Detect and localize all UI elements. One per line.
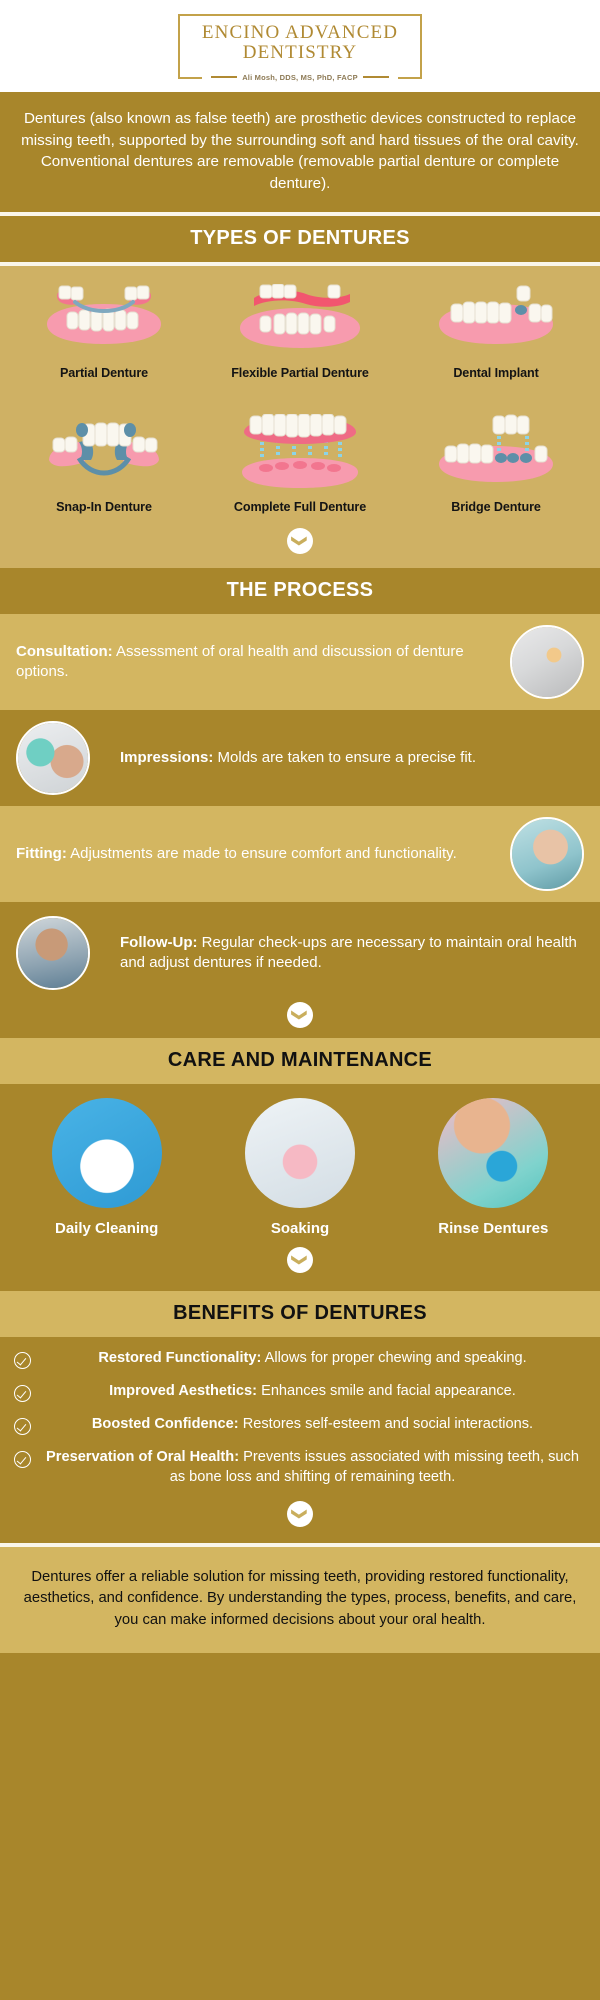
process-step-text: Consultation: Assessment of oral health … — [16, 642, 496, 683]
benefit-body-text: Restores self-esteem and social interact… — [239, 1416, 533, 1432]
scroll-chevron-3[interactable]: ❯ — [10, 1237, 590, 1281]
dental-implant-illustration — [402, 280, 590, 356]
benefit-term: Preservation of Oral Health: — [46, 1449, 239, 1465]
logo-header: ENCINO ADVANCED DENTISTRY Ali Mosh, DDS,… — [0, 0, 600, 92]
check-circle-icon — [14, 1352, 31, 1369]
partial-denture-illustration — [10, 280, 198, 356]
person-with-mouthwash-photo — [438, 1098, 548, 1208]
intro-section: Dentures (also known as false teeth) are… — [0, 92, 600, 212]
benefit-text: Boosted Confidence: Restores self-esteem… — [39, 1415, 586, 1435]
benefit-term: Restored Functionality: — [98, 1350, 261, 1366]
logo-rule-left — [211, 76, 237, 78]
patient-in-dental-chair-photo — [16, 916, 90, 990]
check-circle-icon — [14, 1418, 31, 1435]
type-label: Dental Implant — [402, 366, 590, 380]
care-row: Daily Cleaning Soaking Rinse Dentures — [10, 1098, 590, 1237]
logo-line-1: ENCINO ADVANCED — [202, 23, 398, 43]
snap-in-denture-illustration — [10, 414, 198, 490]
chevron-down-icon: ❯ — [287, 528, 313, 554]
types-row-1: Partial Denture — [6, 280, 594, 392]
care-section: Daily Cleaning Soaking Rinse Dentures ❯ — [0, 1084, 600, 1291]
check-circle-icon — [14, 1451, 31, 1468]
care-section-title: CARE AND MAINTENANCE — [0, 1038, 600, 1084]
process-section-title: THE PROCESS — [0, 568, 600, 614]
scroll-chevron-4[interactable]: ❯ — [14, 1501, 586, 1537]
care-item-daily-cleaning[interactable]: Daily Cleaning — [10, 1098, 203, 1237]
benefit-term: Improved Aesthetics: — [109, 1383, 257, 1399]
logo-subtitle-wrap: Ali Mosh, DDS, MS, PhD, FACP — [202, 73, 398, 82]
scroll-chevron-1[interactable]: ❯ — [6, 526, 594, 562]
process-step-text: Follow-Up: Regular check-ups are necessa… — [104, 933, 584, 974]
care-item-rinse-dentures[interactable]: Rinse Dentures — [397, 1098, 590, 1237]
process-step-term: Impressions: — [120, 749, 213, 766]
type-label: Complete Full Denture — [206, 500, 394, 514]
benefit-term: Boosted Confidence: — [92, 1416, 239, 1432]
logo-line-2: DENTISTRY — [202, 43, 398, 63]
types-section-title: TYPES OF DENTURES — [0, 216, 600, 262]
benefit-text: Restored Functionality: Allows for prope… — [39, 1349, 586, 1369]
woman-denture-fitting-photo — [510, 817, 584, 891]
type-item-complete-full-denture[interactable]: Complete Full Denture — [202, 414, 398, 526]
process-step-impressions[interactable]: Impressions: Molds are taken to ensure a… — [0, 710, 600, 806]
benefit-body-text: Enhances smile and facial appearance. — [257, 1383, 516, 1399]
types-section: Partial Denture — [0, 266, 600, 568]
care-label: Daily Cleaning — [16, 1220, 197, 1237]
process-step-term: Fitting: — [16, 845, 67, 862]
process-step-consultation[interactable]: Consultation: Assessment of oral health … — [0, 614, 600, 710]
chevron-down-icon: ❯ — [287, 1002, 313, 1028]
process-step-term: Follow-Up: — [120, 934, 197, 951]
benefit-item-improved-aesthetics: Improved Aesthetics: Enhances smile and … — [14, 1382, 586, 1402]
benefit-body-text: Allows for proper chewing and speaking. — [261, 1350, 526, 1366]
tooth-with-toothbrush-photo — [52, 1098, 162, 1208]
process-step-fitting[interactable]: Fitting: Adjustments are made to ensure … — [0, 806, 600, 902]
benefits-section: Restored Functionality: Allows for prope… — [0, 1337, 600, 1543]
type-item-dental-implant[interactable]: Dental Implant — [398, 280, 594, 392]
process-step-body: Adjustments are made to ensure comfort a… — [67, 845, 457, 862]
conclusion-text: Dentures offer a reliable solution for m… — [0, 1547, 600, 1653]
benefit-text: Improved Aesthetics: Enhances smile and … — [39, 1382, 586, 1402]
bridge-denture-illustration — [402, 414, 590, 490]
benefit-item-preservation-of-oral-health: Preservation of Oral Health: Prevents is… — [14, 1448, 586, 1488]
patient-with-denture-model-photo — [16, 721, 90, 795]
type-item-snap-in-denture[interactable]: Snap-In Denture — [6, 414, 202, 526]
brand-logo: ENCINO ADVANCED DENTISTRY Ali Mosh, DDS,… — [178, 14, 422, 79]
type-label: Snap-In Denture — [10, 500, 198, 514]
process-step-body: Molds are taken to ensure a precise fit. — [213, 749, 476, 766]
check-circle-icon — [14, 1385, 31, 1402]
types-row-2: Snap-In Denture — [6, 414, 594, 526]
process-step-text: Impressions: Molds are taken to ensure a… — [104, 748, 584, 769]
benefit-item-restored-functionality: Restored Functionality: Allows for prope… — [14, 1349, 586, 1369]
benefit-item-boosted-confidence: Boosted Confidence: Restores self-esteem… — [14, 1415, 586, 1435]
care-item-soaking[interactable]: Soaking — [203, 1098, 396, 1237]
logo-subtitle: Ali Mosh, DDS, MS, PhD, FACP — [242, 73, 358, 82]
type-item-partial-denture[interactable]: Partial Denture — [6, 280, 202, 392]
intro-text: Dentures (also known as false teeth) are… — [0, 92, 600, 212]
flexible-partial-denture-illustration — [206, 280, 394, 356]
benefits-section-title: BENEFITS OF DENTURES — [0, 1291, 600, 1337]
type-item-flexible-partial-denture[interactable]: Flexible Partial Denture — [202, 280, 398, 392]
type-label: Partial Denture — [10, 366, 198, 380]
logo-rule-right — [363, 76, 389, 78]
benefit-text: Preservation of Oral Health: Prevents is… — [39, 1448, 586, 1488]
denture-in-glass-of-water-photo — [245, 1098, 355, 1208]
complete-full-denture-illustration — [206, 414, 394, 490]
care-label: Soaking — [209, 1220, 390, 1237]
type-item-bridge-denture[interactable]: Bridge Denture — [398, 414, 594, 526]
care-label: Rinse Dentures — [403, 1220, 584, 1237]
scroll-chevron-2[interactable]: ❯ — [0, 998, 600, 1038]
type-label: Flexible Partial Denture — [206, 366, 394, 380]
process-step-term: Consultation: — [16, 643, 113, 660]
chevron-down-icon: ❯ — [287, 1247, 313, 1273]
process-step-follow-up[interactable]: Follow-Up: Regular check-ups are necessa… — [0, 902, 600, 998]
type-label: Bridge Denture — [402, 500, 590, 514]
infographic-page: ENCINO ADVANCED DENTISTRY Ali Mosh, DDS,… — [0, 0, 600, 2000]
dentist-holding-tooth-model-photo — [510, 625, 584, 699]
process-step-text: Fitting: Adjustments are made to ensure … — [16, 844, 496, 865]
chevron-down-icon: ❯ — [287, 1501, 313, 1527]
